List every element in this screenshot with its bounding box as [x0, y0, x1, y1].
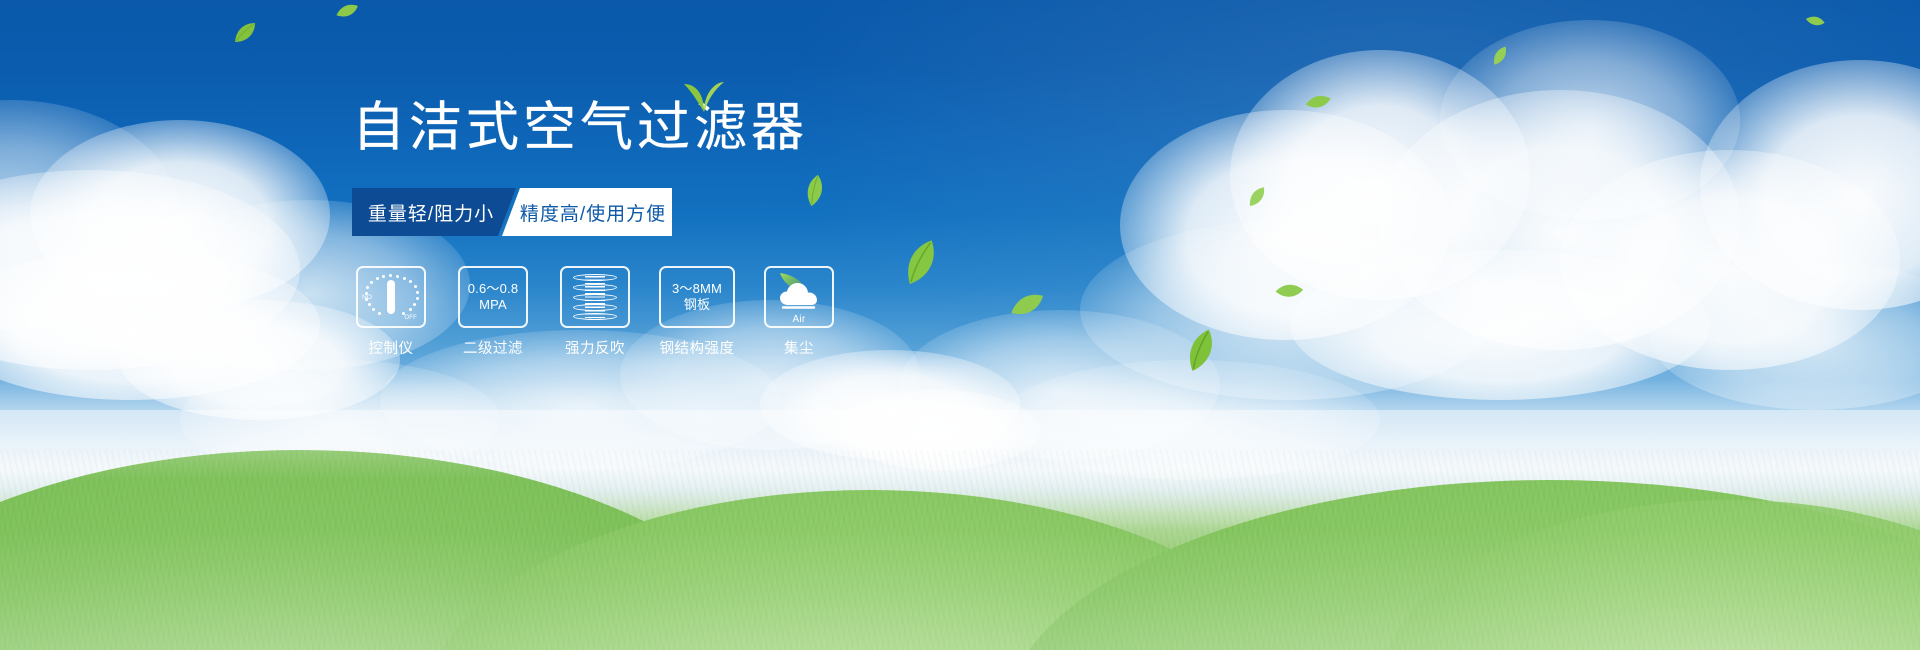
feature-label: 钢结构强度: [660, 337, 735, 358]
filter-cartridge-icon: [571, 272, 619, 322]
feature-item-controller[interactable]: NO OFF 控制仪: [352, 266, 430, 358]
steel-line-1: 3～8MM: [672, 281, 722, 297]
pressure-line-1: 0.6～0.8: [468, 281, 519, 297]
feature-item-backblow[interactable]: 强力反吹: [556, 266, 634, 358]
feature-icon-row: NO OFF 控制仪 0.6～0.8 MPA 二级过滤: [352, 266, 992, 358]
title-leaf-icon: [682, 78, 726, 114]
feature-tabs: 重量轻/阻力小 精度高/使用方便: [352, 188, 674, 236]
feature-item-steel-strength[interactable]: 3～8MM 钢板 钢结构强度: [658, 266, 736, 358]
feature-box: Air: [764, 266, 834, 328]
feature-box: NO OFF: [356, 266, 426, 328]
feature-label: 二级过滤: [463, 337, 523, 358]
grass-field: [0, 410, 1920, 650]
feature-label: 强力反吹: [565, 337, 625, 358]
tab-label: 重量轻/阻力小: [368, 199, 494, 226]
feature-box: [560, 266, 630, 328]
power-dial-icon: NO OFF: [363, 272, 419, 322]
tab-highprecision-easyuse[interactable]: 精度高/使用方便: [502, 188, 672, 236]
title-row: 自洁式空气过滤器: [352, 96, 992, 172]
leaf-icon: [1006, 284, 1048, 326]
page-title: 自洁式空气过滤器: [352, 96, 992, 160]
leaf-icon: [232, 20, 258, 46]
dial-label-no: NO: [362, 294, 372, 301]
leaf-icon: [1244, 184, 1269, 209]
steel-plate-text-icon: 3～8MM 钢板: [672, 281, 722, 313]
feature-label: 控制仪: [369, 337, 414, 358]
tab-lightweight-lowresistance[interactable]: 重量轻/阻力小: [352, 188, 516, 236]
feature-box: 3～8MM 钢板: [659, 266, 735, 328]
leaf-icon: [1802, 8, 1827, 33]
cloud-air-icon: Air: [770, 271, 828, 323]
feature-item-dust-collection[interactable]: Air 集尘: [760, 266, 838, 358]
tab-label: 精度高/使用方便: [520, 199, 666, 226]
leaf-icon: [1488, 44, 1512, 68]
dial-label-off: OFF: [404, 315, 417, 321]
leaf-icon: [1173, 323, 1229, 379]
leaf-icon: [333, 0, 361, 25]
air-label: Air: [792, 314, 805, 325]
pressure-text-icon: 0.6～0.8 MPA: [468, 281, 519, 313]
feature-label: 集尘: [784, 337, 814, 358]
steel-line-2: 钢板: [672, 297, 722, 313]
hero-banner: 自洁式空气过滤器 重量轻/阻力小 精度高/使用方便: [0, 0, 1920, 650]
pressure-line-2: MPA: [468, 297, 519, 313]
banner-content: 自洁式空气过滤器 重量轻/阻力小 精度高/使用方便: [352, 96, 992, 358]
feature-item-secondary-filter[interactable]: 0.6～0.8 MPA 二级过滤: [454, 266, 532, 358]
leaf-icon: [1302, 86, 1335, 119]
feature-box: 0.6～0.8 MPA: [458, 266, 528, 328]
leaf-icon: [1271, 273, 1308, 310]
